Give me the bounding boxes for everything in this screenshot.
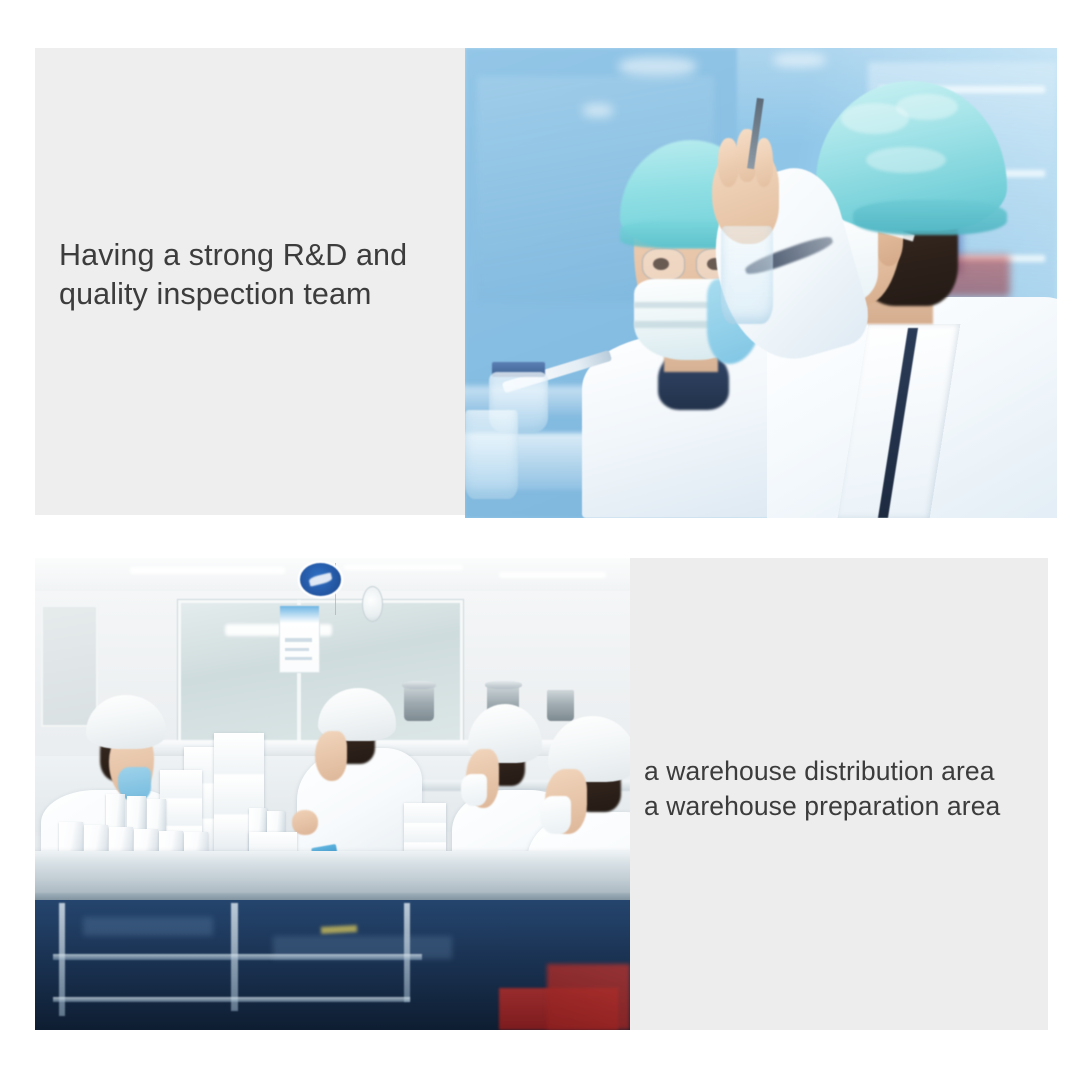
- packing-room-scene: [35, 558, 630, 1030]
- lab-worker-profile-finger-3: [755, 138, 773, 187]
- packing-worker-right-mask: [540, 796, 571, 834]
- blue-circular-sign: [300, 563, 342, 596]
- poster-text-line-2: [285, 648, 309, 651]
- warehouse-caption-line-1: a warehouse distribution area: [644, 754, 1049, 789]
- lab-ceiling-light-2: [773, 53, 826, 67]
- packing-worker-left-hairnet: [86, 695, 166, 749]
- rnd-caption-line-2: quality inspection team: [59, 275, 449, 314]
- showcase-page: Having a strong R&D and quality inspecti…: [0, 0, 1080, 1080]
- lab-scene: [465, 48, 1057, 518]
- red-floor-equipment-2: [547, 964, 630, 1030]
- rnd-caption: Having a strong R&D and quality inspecti…: [59, 236, 449, 313]
- warehouse-caption-panel: a warehouse distribution area a warehous…: [630, 558, 1048, 1030]
- rnd-caption-panel: Having a strong R&D and quality inspecti…: [35, 48, 465, 515]
- lab-ceiling-light-3: [583, 104, 613, 116]
- rnd-caption-line-1: Having a strong R&D and: [59, 236, 449, 275]
- ceiling-light-strip-3: [499, 572, 606, 578]
- lab-worker-profile-hairnet-band: [853, 200, 1007, 235]
- warehouse-section: a warehouse distribution area a warehous…: [35, 558, 1048, 1030]
- table-crossbar-2: [53, 997, 410, 1002]
- poster-text-line-3: [285, 657, 312, 660]
- floor-reflection-1: [83, 917, 214, 936]
- packing-worker-center-mask: [461, 774, 487, 806]
- lab-ceiling-light-1: [619, 57, 696, 76]
- warehouse-caption-line-2: a warehouse preparation area: [644, 789, 1049, 824]
- lab-held-beaker: [721, 226, 773, 323]
- lab-bench-beaker: [465, 410, 518, 499]
- warehouse-packing-photo: [35, 558, 630, 1030]
- poster-text-line-1: [285, 638, 312, 641]
- table-leg-3: [404, 903, 411, 1002]
- stainless-steel-table: [35, 851, 630, 896]
- lab-worker-profile: [761, 76, 1057, 518]
- steel-container-2-lid: [485, 681, 522, 689]
- ceiling-light-strip-2: [344, 565, 463, 571]
- ceiling-light-strip-1: [130, 567, 285, 574]
- lab-worker-profile-hairnet-ruffle-3: [866, 147, 946, 174]
- rnd-quality-section: Having a strong R&D and quality inspecti…: [35, 48, 1057, 518]
- lab-quality-inspection-photo: [465, 48, 1057, 518]
- packing-worker-bending-face: [315, 731, 346, 781]
- warehouse-caption: a warehouse distribution area a warehous…: [644, 754, 1049, 824]
- table-crossbar-1: [53, 954, 422, 960]
